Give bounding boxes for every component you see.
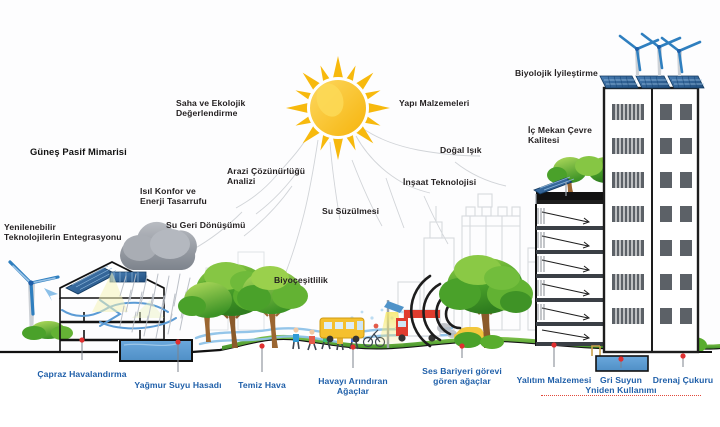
label-gunes-pasif-mimarisi: Güneş Pasif Mimarisi [30,146,127,157]
label-biyolojik-iyilestirme: Biyolojik İyileştirme [515,68,598,78]
label-su-geri-donusumu: Su Geri Dönüşümü [166,220,245,230]
infographic-canvas: Güneş Pasif MimarisiSaha ve Ekolojik Değ… [0,0,720,427]
rainwater-pond [120,340,192,361]
label-ic-mekan-cevre-kalitesi: İç Mekan Çevre Kalitesi [528,125,592,145]
solar-panel-array-roof [600,76,704,88]
label-arazi-cozunurlugu-analizi: Arazi Çözünürlüğü Analizi [227,166,305,186]
label-drenaj-cukuru: Drenaj Çukuru [603,375,720,385]
label-dogal-isik: Doğal Işık [440,145,482,155]
label-capraz-havalandirma: Çapraz Havalandırma [2,369,162,379]
label-yapi-malzemeleri: Yapı Malzemeleri [399,98,469,108]
label-yenilenebilir-teknolojilerin-entegrasyonu: Yenilenebilir Teknolojilerin Entegrasyon… [4,222,122,242]
label-line-2: Yniden Kullanımı [541,385,701,396]
tower-building [600,34,704,352]
label-saha-ve-ekolojik-degerlendirme: Saha ve Ekolojik Değerlendirme [176,98,245,118]
label-isil-konfor-ve-enerji-tasarrufu: Isıl Konfor ve Enerji Tasarrufu [140,186,207,206]
label-biyocesitlilik: Biyoçeşitlilik [274,275,328,285]
label-insaat-teknolojisi: İnşaat Teknolojisi [403,177,476,187]
label-su-suzulmesi: Su Süzülmesi [322,206,379,216]
